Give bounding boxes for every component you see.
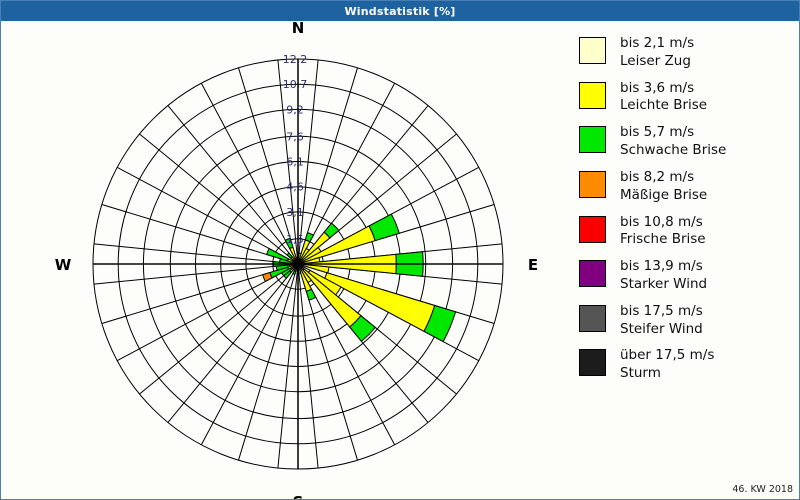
color-swatch	[579, 216, 606, 243]
compass-label-north: N	[292, 21, 305, 37]
petal-segment	[263, 273, 272, 282]
legend: bis 2,1 m/s Leiser Zug bis 3,6 m/s Leich…	[579, 35, 794, 392]
legend-speed-range: bis 8,2 m/s	[620, 169, 707, 187]
legend-speed-range: bis 2,1 m/s	[620, 35, 694, 53]
radial-tick-label: 1,5	[286, 233, 304, 246]
legend-beaufort-name: Leichte Brise	[620, 97, 707, 115]
legend-speed-range: bis 5,7 m/s	[620, 124, 726, 142]
color-swatch	[579, 126, 606, 153]
radial-tick-label: 7,6	[286, 130, 304, 143]
legend-item[interactable]: bis 10,8 m/s Frische Brise	[579, 214, 794, 250]
color-swatch	[579, 37, 606, 64]
legend-item[interactable]: bis 2,1 m/s Leiser Zug	[579, 35, 794, 71]
radial-tick-label: 3,1	[286, 206, 304, 219]
wind-rose-chart: 1,53,14,66,17,69,210,712,2 NESW	[1, 21, 561, 499]
legend-item-label: bis 8,2 m/s Mäßige Brise	[620, 169, 707, 205]
compass-label-west: W	[55, 256, 72, 274]
legend-item[interactable]: bis 8,2 m/s Mäßige Brise	[579, 169, 794, 205]
legend-item-label: bis 13,9 m/s Starker Wind	[620, 258, 707, 294]
legend-item-label: bis 5,7 m/s Schwache Brise	[620, 124, 726, 160]
petal-segment	[293, 271, 296, 275]
legend-item[interactable]: bis 5,7 m/s Schwache Brise	[579, 124, 794, 160]
wind-rose-svg: 1,53,14,66,17,69,210,712,2 NESW	[1, 21, 561, 499]
wind-statistics-window: Windstatistik [%] 1,53,14,66,17,69,210,7…	[0, 0, 800, 500]
polar-axes	[93, 59, 503, 469]
petal-segment	[267, 249, 289, 261]
legend-item[interactable]: bis 17,5 m/s Steifer Wind	[579, 303, 794, 339]
legend-item-label: bis 17,5 m/s Steifer Wind	[620, 303, 703, 339]
petal-segment	[306, 289, 316, 300]
color-swatch	[579, 260, 606, 287]
petal-segment	[305, 233, 313, 242]
legend-item[interactable]: über 17,5 m/s Sturm	[579, 347, 794, 383]
window-titlebar: Windstatistik [%]	[1, 1, 799, 21]
legend-speed-range: bis 10,8 m/s	[620, 214, 706, 232]
footer-week-label: 46. KW 2018	[732, 484, 793, 495]
radial-tick-label: 4,6	[286, 181, 304, 194]
radial-tick-label: 12,2	[283, 53, 308, 66]
color-swatch	[579, 171, 606, 198]
petal-segment	[369, 214, 399, 240]
legend-item-label: bis 10,8 m/s Frische Brise	[620, 214, 706, 250]
petal-segment	[287, 253, 292, 258]
legend-speed-range: bis 13,9 m/s	[620, 258, 707, 276]
compass-label-south: S	[293, 493, 304, 499]
legend-item[interactable]: bis 3,6 m/s Leichte Brise	[579, 80, 794, 116]
legend-beaufort-name: Starker Wind	[620, 276, 707, 294]
radial-tick-label: 6,1	[286, 156, 304, 169]
legend-beaufort-name: Mäßige Brise	[620, 187, 707, 205]
legend-beaufort-name: Leiser Zug	[620, 53, 694, 71]
legend-item-label: über 17,5 m/s Sturm	[620, 347, 714, 383]
legend-speed-range: bis 17,5 m/s	[620, 303, 703, 321]
legend-beaufort-name: Steifer Wind	[620, 321, 703, 339]
color-swatch	[579, 305, 606, 332]
legend-beaufort-name: Sturm	[620, 365, 714, 383]
legend-beaufort-name: Schwache Brise	[620, 142, 726, 160]
legend-speed-range: bis 3,6 m/s	[620, 80, 707, 98]
legend-item-label: bis 3,6 m/s Leichte Brise	[620, 80, 707, 116]
legend-beaufort-name: Frische Brise	[620, 231, 706, 249]
color-swatch	[579, 349, 606, 376]
compass-label-east: E	[528, 256, 538, 274]
radial-tick-label: 9,2	[286, 103, 304, 116]
legend-item-label: bis 2,1 m/s Leiser Zug	[620, 35, 694, 71]
window-title: Windstatistik [%]	[344, 5, 455, 18]
color-swatch	[579, 82, 606, 109]
legend-speed-range: über 17,5 m/s	[620, 347, 714, 365]
legend-item[interactable]: bis 13,9 m/s Starker Wind	[579, 258, 794, 294]
radial-tick-label: 10,7	[283, 78, 308, 91]
